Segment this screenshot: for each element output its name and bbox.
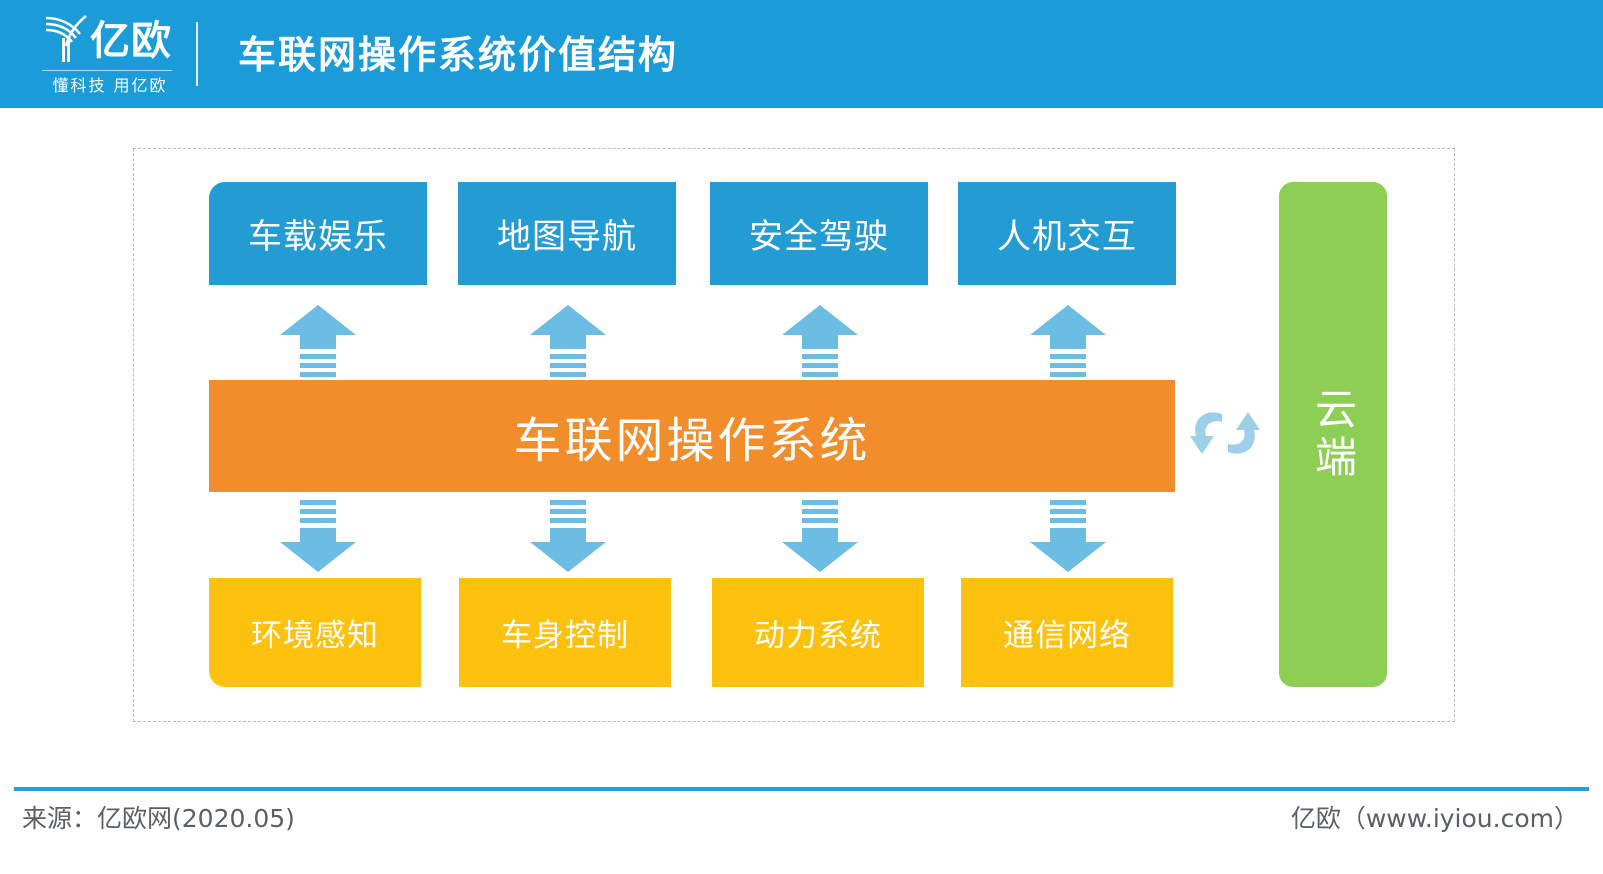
top-node-3-label: 安全驾驶 [749,209,889,258]
logo-tagline: 懂科技 用亿欧 [44,74,176,98]
cloud-panel[interactable]: 云端 [1279,182,1387,687]
up-arrow-icon-2 [528,305,608,377]
page-title: 车联网操作系统价值结构 [238,33,678,77]
top-node-2-label: 地图导航 [497,209,637,258]
top-node-1-label: 车载娱乐 [248,209,388,258]
logo-divider [42,70,172,71]
up-arrow-icon-1 [278,305,358,377]
top-node-2[interactable]: 地图导航 [458,182,676,285]
up-arrow-icon-3 [780,305,860,377]
bottom-node-2[interactable]: 车身控制 [459,578,671,687]
bottom-node-3-label: 动力系统 [754,610,882,655]
down-arrow-icon-4 [1028,500,1108,572]
down-arrow-icon-3 [780,500,860,572]
top-node-4-label: 人机交互 [997,209,1137,258]
down-arrow-icon-2 [528,500,608,572]
footer-divider [14,787,1589,791]
logo-wordmark: 亿欧 [90,18,172,64]
core-system-bar[interactable]: 车联网操作系统 [209,380,1175,492]
cloud-panel-label: 云端 [1303,387,1364,483]
yiou-logo-icon [42,12,90,64]
core-system-label: 车联网操作系统 [513,401,870,471]
bottom-node-1[interactable]: 环境感知 [209,578,421,687]
down-arrow-icon-1 [278,500,358,572]
top-node-4[interactable]: 人机交互 [958,182,1176,285]
footer-source: 来源：亿欧网(2020.05) [22,802,295,836]
sync-arrows-icon [1188,398,1262,468]
bottom-node-4[interactable]: 通信网络 [961,578,1173,687]
header-divider [196,22,198,86]
page-header: 亿欧 懂科技 用亿欧 车联网操作系统价值结构 [0,0,1603,108]
up-arrow-icon-4 [1028,305,1108,377]
bottom-node-4-label: 通信网络 [1003,610,1131,655]
bottom-node-1-label: 环境感知 [251,610,379,655]
bottom-node-2-label: 车身控制 [501,610,629,655]
brand-logo: 亿欧 懂科技 用亿欧 [36,12,176,98]
top-node-1[interactable]: 车载娱乐 [209,182,427,285]
bottom-node-3[interactable]: 动力系统 [712,578,924,687]
top-node-3[interactable]: 安全驾驶 [710,182,928,285]
footer-brand: 亿欧（www.iyiou.com） [1291,802,1579,836]
